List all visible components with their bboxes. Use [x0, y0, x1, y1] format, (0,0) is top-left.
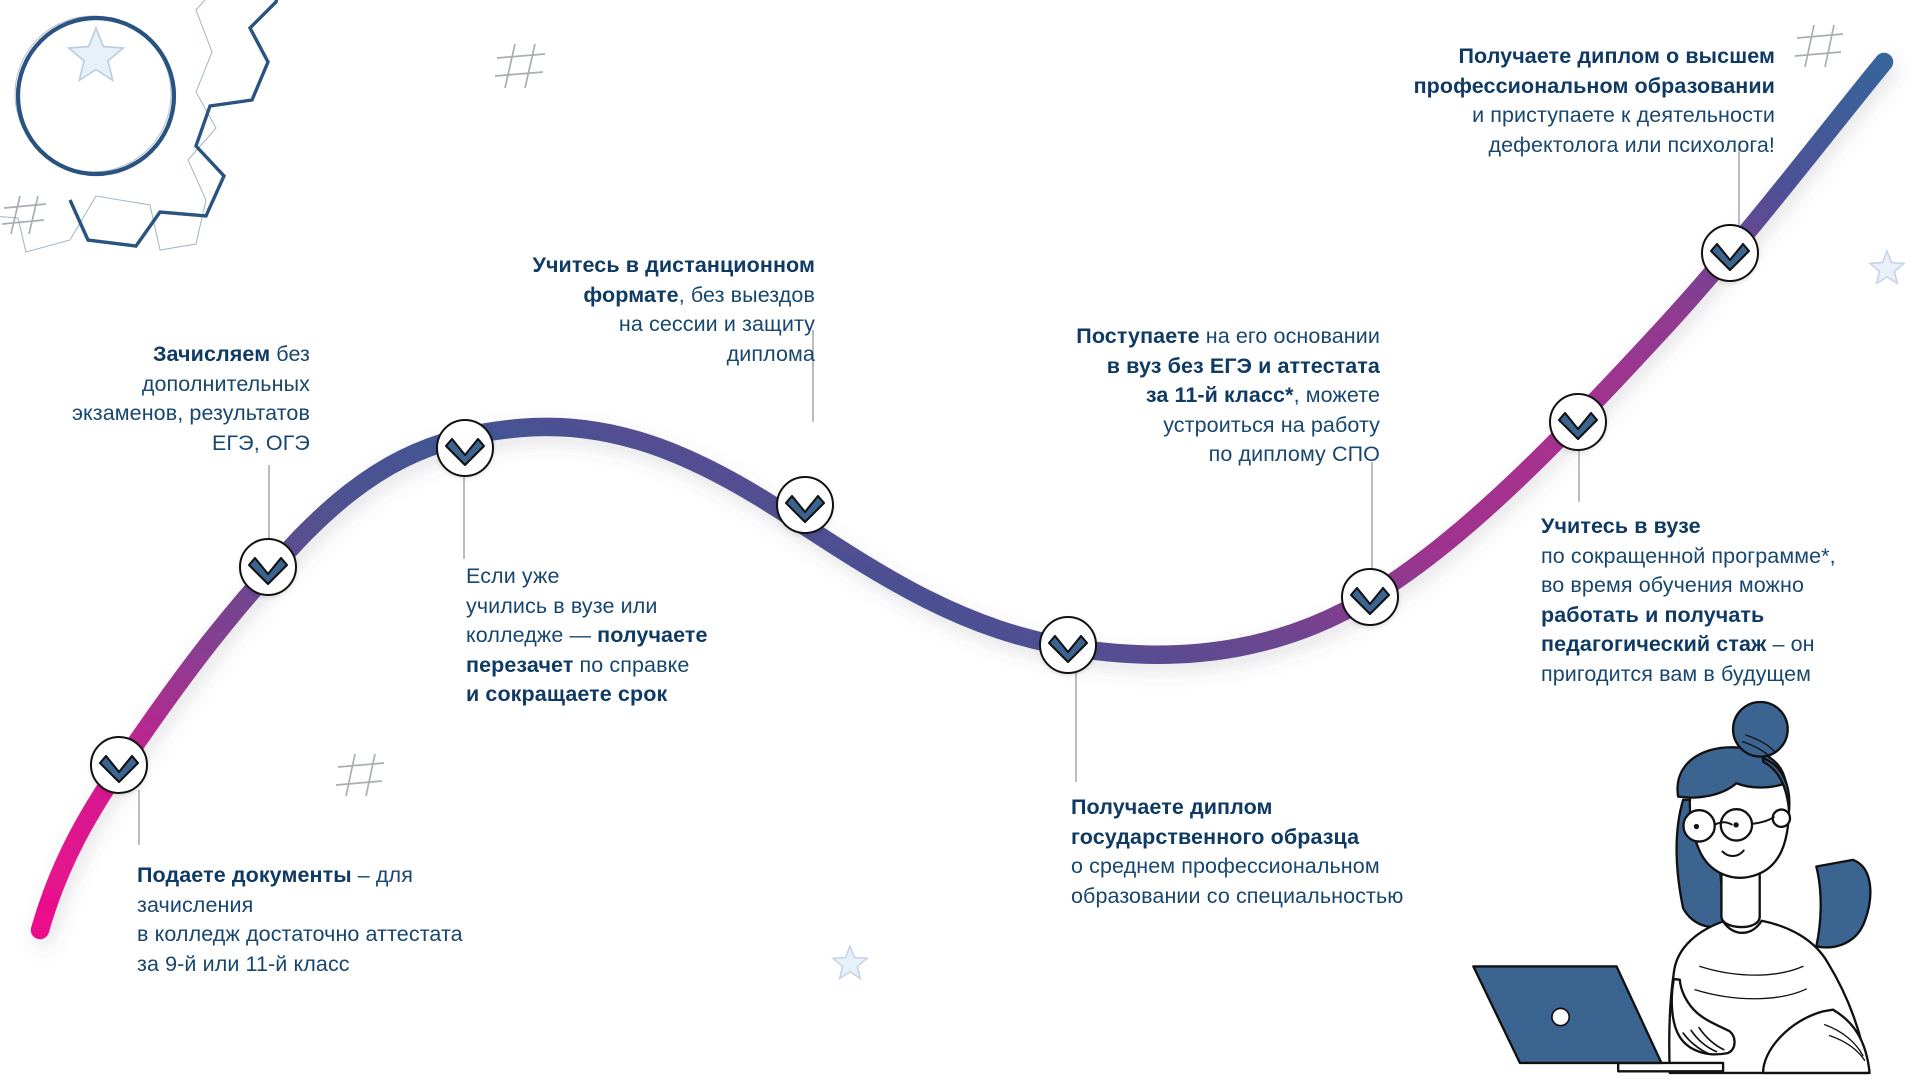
text-line: в колледж достаточно аттестата	[137, 920, 557, 950]
text-run-bold: Поступаете	[1076, 324, 1199, 348]
text-run-bold: формате	[583, 283, 678, 307]
text-run: за 9-й или 11-й класс	[137, 952, 350, 976]
text-run: устроиться на работу	[1163, 413, 1380, 437]
text-line: и приступаете к деятельности	[1280, 101, 1775, 131]
text-run: Если уже	[466, 564, 560, 588]
text-line: зачисления	[137, 891, 557, 921]
text-line: Учитесь в вузе	[1541, 512, 1920, 542]
text-line: по сокращенной программе*,	[1541, 542, 1920, 572]
text-run-bold: Получаете диплом о высшем	[1458, 44, 1775, 68]
text-line: Получаете диплом	[1071, 793, 1501, 823]
text-run-bold: за 11-й класс*	[1146, 383, 1294, 407]
text-line: пригодится вам в будущем	[1541, 660, 1920, 690]
text-run: колледже —	[466, 623, 597, 647]
text-line: педагогический стаж – он	[1541, 630, 1920, 660]
text-run-bold: и сокращаете срок	[466, 682, 667, 706]
text-run: – для	[352, 863, 413, 887]
text-line: ЕГЭ, ОГЭ	[0, 429, 310, 459]
step-label-spo-diploma: Получаете дипломгосударственного образца…	[1071, 793, 1501, 911]
text-run-bold: Зачисляем	[153, 342, 270, 366]
text-line: государственного образца	[1071, 823, 1501, 853]
text-line: и сокращаете срок	[466, 680, 806, 710]
step-label-higher-education-diploma: Получаете диплом о высшемпрофессионально…	[1280, 42, 1775, 160]
text-run: и приступаете к деятельности	[1472, 103, 1775, 127]
text-run: дефектолога или психолога!	[1488, 133, 1775, 157]
text-line: учились в вузе или	[466, 592, 806, 622]
text-line: о среднем профессиональном	[1071, 852, 1501, 882]
text-run: образовании со специальностью	[1071, 884, 1403, 908]
step-label-university-admission: Поступаете на его основаниив вуз без ЕГЭ…	[960, 322, 1380, 470]
text-line: Получаете диплом о высшем	[1280, 42, 1775, 72]
text-run: на его основании	[1200, 324, 1380, 348]
step-label-university-study: Учитесь в вузепо сокращенной программе*,…	[1541, 512, 1920, 689]
step-label-credit-transfer: Если ужеучились в вузе иликолледже — пол…	[466, 562, 806, 710]
text-run: экзаменов, результатов	[72, 401, 310, 425]
text-line: формате, без выездов	[430, 281, 815, 311]
text-run: по сокращенной программе*,	[1541, 544, 1836, 568]
text-run-bold: работать и получать	[1541, 603, 1764, 627]
text-line: дефектолога или психолога!	[1280, 131, 1775, 161]
text-line: Подаете документы – для	[137, 861, 557, 891]
text-line: профессиональном образовании	[1280, 72, 1775, 102]
text-line: в вуз без ЕГЭ и аттестата	[960, 352, 1380, 382]
text-run: , без выездов	[679, 283, 815, 307]
text-line: диплома	[430, 340, 815, 370]
text-run-bold: Учитесь в дистанционном	[532, 253, 815, 277]
text-line: перезачет по справке	[466, 651, 806, 681]
text-run: в колледж достаточно аттестата	[137, 922, 463, 946]
text-run: без	[270, 342, 310, 366]
text-line: образовании со специальностью	[1071, 882, 1501, 912]
infographic-canvas: Подаете документы – длязачисленияв колле…	[0, 0, 1920, 1081]
text-run: учились в вузе или	[466, 594, 657, 618]
text-run-bold: Учитесь в вузе	[1541, 514, 1701, 538]
text-run-bold: профессиональном образовании	[1414, 74, 1775, 98]
step-label-enrollment-no-exams: Зачисляем бездополнительныхэкзаменов, ре…	[0, 340, 310, 458]
text-run: ЕГЭ, ОГЭ	[212, 431, 310, 455]
text-line: за 9-й или 11-й класс	[137, 950, 557, 980]
text-line: Поступаете на его основании	[960, 322, 1380, 352]
text-run-bold: государственного образца	[1071, 825, 1359, 849]
text-line: работать и получать	[1541, 601, 1920, 631]
text-line: экзаменов, результатов	[0, 399, 310, 429]
text-run-bold: Получаете диплом	[1071, 795, 1273, 819]
text-run: дополнительных	[142, 372, 310, 396]
text-run: – он	[1766, 632, 1814, 656]
step-label-distance-learning: Учитесь в дистанционномформате, без выез…	[430, 251, 815, 369]
text-run: диплома	[727, 342, 815, 366]
text-run: пригодится вам в будущем	[1541, 662, 1811, 686]
text-line: на сессии и защиту	[430, 310, 815, 340]
text-run-bold: в вуз без ЕГЭ и аттестата	[1107, 354, 1380, 378]
text-run-bold: получаете	[597, 623, 707, 647]
text-line: Учитесь в дистанционном	[430, 251, 815, 281]
text-run: по диплому СПО	[1209, 442, 1380, 466]
text-line: устроиться на работу	[960, 411, 1380, 441]
text-run: , можете	[1294, 383, 1380, 407]
text-line: Если уже	[466, 562, 806, 592]
text-run: о среднем профессиональном	[1071, 854, 1380, 878]
text-run: во время обучения можно	[1541, 573, 1804, 597]
text-line: по диплому СПО	[960, 440, 1380, 470]
text-line: за 11-й класс*, можете	[960, 381, 1380, 411]
text-line: колледже — получаете	[466, 621, 806, 651]
text-line: Зачисляем без	[0, 340, 310, 370]
text-run-bold: перезачет	[466, 653, 573, 677]
text-run-bold: педагогический стаж	[1541, 632, 1766, 656]
text-line: во время обучения можно	[1541, 571, 1920, 601]
text-line: дополнительных	[0, 370, 310, 400]
labels-layer: Подаете документы – длязачисленияв колле…	[0, 0, 1920, 1081]
step-label-submit-documents: Подаете документы – длязачисленияв колле…	[137, 861, 557, 979]
text-run-bold: Подаете документы	[137, 863, 352, 887]
text-run: на сессии и защиту	[619, 312, 815, 336]
text-run: зачисления	[137, 893, 253, 917]
text-run: по справке	[573, 653, 689, 677]
